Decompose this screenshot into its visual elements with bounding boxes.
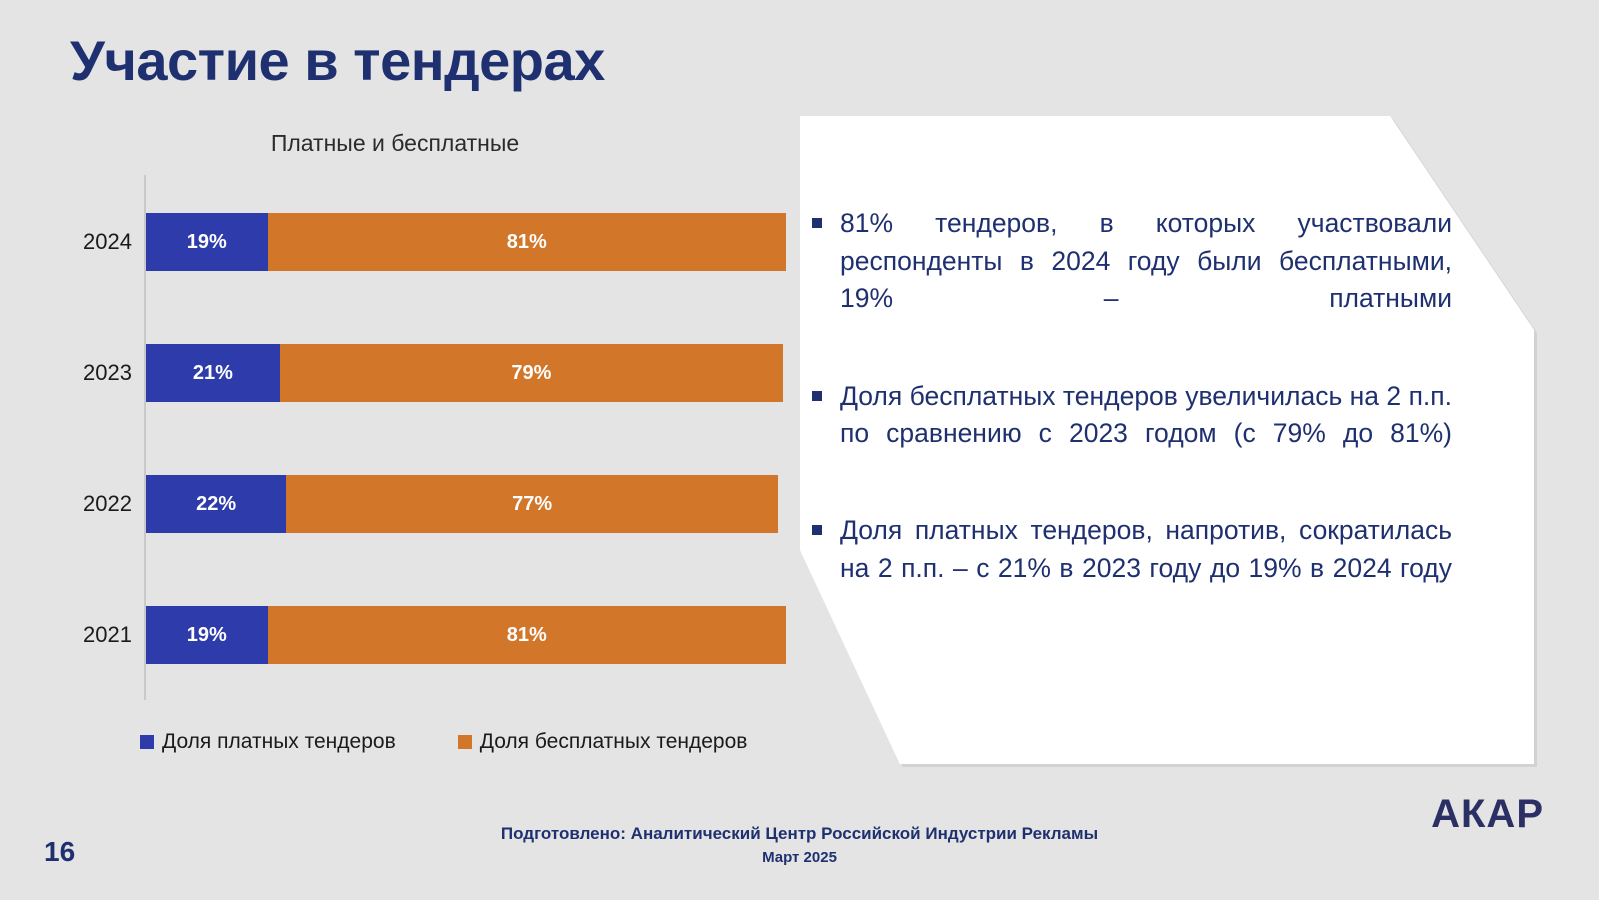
chart-title: Платные и бесплатные: [0, 130, 790, 157]
bar-segment-free[interactable]: 81%: [268, 213, 786, 271]
table-row: 2024 19% 81%: [60, 213, 790, 271]
slide-root: Участие в тендерах Платные и бесплатные …: [0, 0, 1599, 900]
list-item: Доля бесплатных тендеров увеличилась на …: [812, 378, 1452, 491]
bar-segment-paid[interactable]: 19%: [146, 606, 268, 664]
bullet-square-icon: [812, 218, 822, 228]
chart-plot-area: 2024 19% 81% 2023 21% 79% 2022 22%: [60, 175, 790, 700]
bar-segment-paid[interactable]: 21%: [146, 344, 280, 402]
bullet-square-icon: [812, 391, 822, 401]
list-item: 81% тендеров, в которых участвовали респ…: [812, 205, 1452, 356]
list-item: Доля платных тендеров, напротив, сократи…: [812, 512, 1452, 625]
bullet-square-icon: [812, 525, 822, 535]
footer-date: Март 2025: [0, 847, 1599, 869]
table-row: 2023 21% 79%: [60, 344, 790, 402]
bar-category-label: 2021: [60, 606, 132, 664]
legend-swatch-icon: [140, 735, 154, 749]
chart-container: Платные и бесплатные 2024 19% 81% 2023 2…: [0, 120, 790, 760]
bar-segment-free[interactable]: 81%: [268, 606, 786, 664]
insight-bullet-list: 81% тендеров, в которых участвовали респ…: [812, 205, 1452, 647]
bar-segment-free[interactable]: 79%: [280, 344, 783, 402]
bar-segment-free[interactable]: 77%: [286, 475, 778, 533]
bar-track: 19% 81%: [146, 606, 786, 664]
bullet-text: 81% тендеров, в которых участвовали респ…: [840, 205, 1452, 356]
bullet-text: Доля платных тендеров, напротив, сократи…: [840, 512, 1452, 625]
legend-item-free[interactable]: Доля бесплатных тендеров: [458, 730, 748, 754]
chart-legend: Доля платных тендеров Доля бесплатных те…: [140, 730, 747, 754]
legend-swatch-icon: [458, 735, 472, 749]
table-row: 2021 19% 81%: [60, 606, 790, 664]
bar-segment-paid[interactable]: 22%: [146, 475, 286, 533]
bar-category-label: 2024: [60, 213, 132, 271]
bar-category-label: 2023: [60, 344, 132, 402]
bar-track: 22% 77%: [146, 475, 778, 533]
bar-segment-paid[interactable]: 19%: [146, 213, 268, 271]
page-title: Участие в тендерах: [70, 28, 605, 93]
legend-item-paid[interactable]: Доля платных тендеров: [140, 730, 396, 754]
bar-track: 19% 81%: [146, 213, 786, 271]
footer-credit: Подготовлено: Аналитический Центр Россий…: [0, 822, 1599, 868]
legend-label: Доля бесплатных тендеров: [480, 730, 748, 754]
footer-credit-text: Подготовлено: Аналитический Центр Россий…: [501, 824, 1098, 843]
bar-track: 21% 79%: [146, 344, 783, 402]
legend-label: Доля платных тендеров: [162, 730, 396, 754]
table-row: 2022 22% 77%: [60, 475, 790, 533]
akar-logo: АКАР: [1431, 792, 1544, 837]
bar-category-label: 2022: [60, 475, 132, 533]
bullet-text: Доля бесплатных тендеров увеличилась на …: [840, 378, 1452, 491]
